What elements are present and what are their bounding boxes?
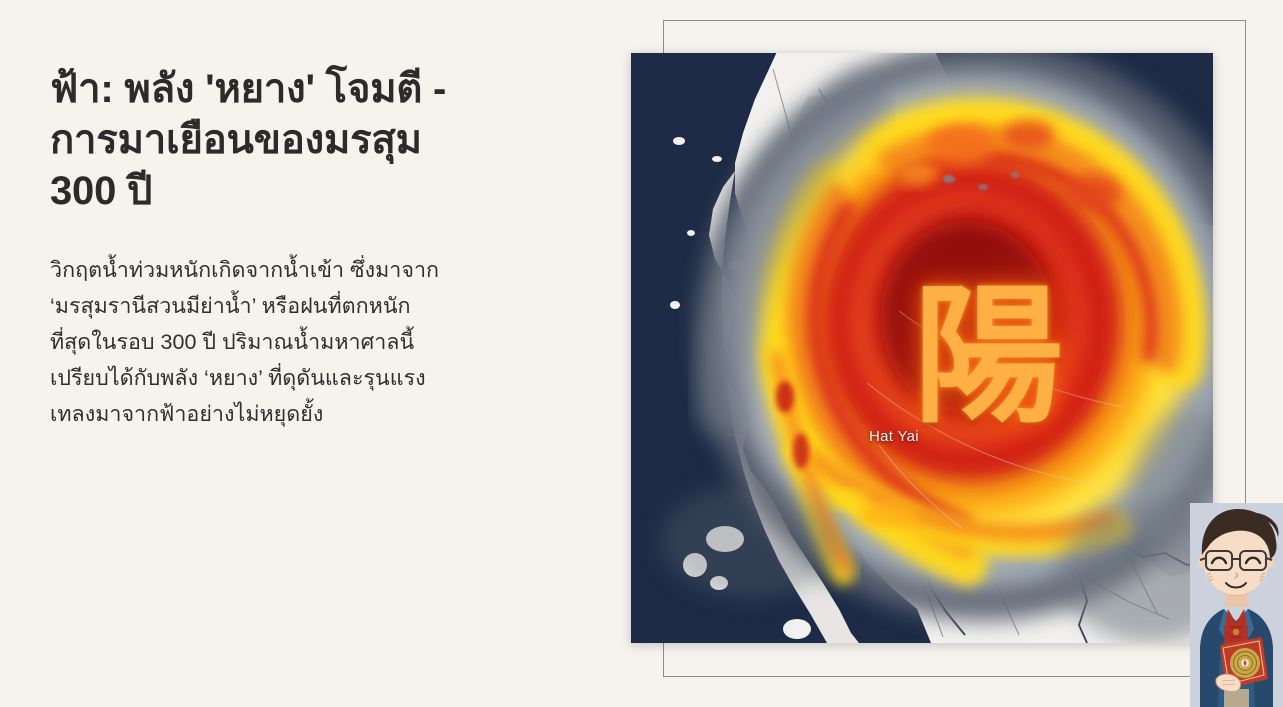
weather-map-card xyxy=(631,53,1213,643)
text-column: ฟ้า: พลัง 'หยาง' โจมตี - การมาเยือนของมร… xyxy=(50,64,550,432)
weather-map-image xyxy=(631,53,1213,643)
avatar-illustration xyxy=(1190,503,1283,707)
body-paragraph: วิกฤตน้ำท่วมหนักเกิดจากน้ำเข้า ซึ่งมาจาก… xyxy=(50,252,550,433)
page-title: ฟ้า: พลัง 'หยาง' โจมตี - การมาเยือนของมร… xyxy=(50,64,550,218)
slide-root: ฟ้า: พลัง 'หยาง' โจมตี - การมาเยือนของมร… xyxy=(0,0,1283,707)
avatar xyxy=(1190,503,1283,707)
